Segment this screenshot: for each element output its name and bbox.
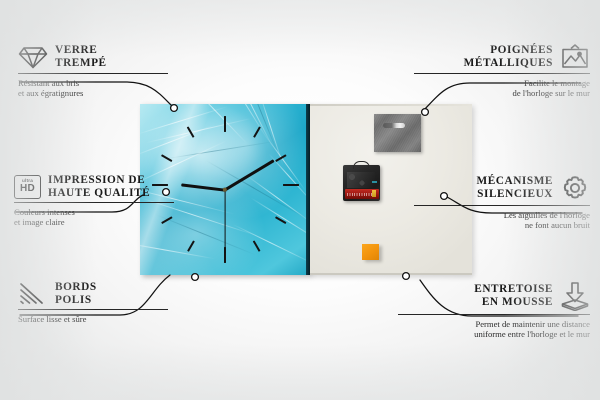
divider [18, 73, 168, 74]
connector-dot [192, 274, 199, 281]
feature-title: ENTRETOISE EN MOUSSE [474, 283, 553, 308]
divider [414, 73, 590, 74]
diamond-icon [18, 44, 48, 70]
feature-title: BORDS POLIS [55, 281, 97, 306]
polished-edge-icon [18, 282, 48, 306]
feature-bords-polis: BORDS POLIS Surface lisse et sûre [18, 281, 168, 324]
feature-impression-haute-qualite: ultra HD IMPRESSION DE HAUTE QUALITÉ Cou… [14, 174, 174, 228]
feature-mecanisme-silencieux: MÉCANISME SILENCIEUX Les aiguilles de l'… [414, 174, 590, 230]
divider [18, 309, 168, 310]
feature-poignees-metalliques: POIGNÉES MÉTALLIQUES Facilite le montage… [414, 44, 590, 98]
connector-dot [171, 105, 178, 112]
infographic-canvas: VERRE TREMPÉ Résistant aux bris et aux é… [0, 0, 600, 400]
foam-spacer-arrow-icon [560, 281, 590, 311]
divider [14, 202, 174, 203]
feature-subtitle: Facilite le montage de l'horloge sur le … [414, 78, 590, 99]
feature-subtitle: Surface lisse et sûre [18, 314, 168, 324]
picture-frame-hanger-icon [560, 44, 590, 70]
feature-verre-trempe: VERRE TREMPÉ Résistant aux bris et aux é… [18, 44, 168, 98]
feature-subtitle: Les aiguilles de l'horloge ne font aucun… [414, 210, 590, 231]
divider [414, 205, 590, 206]
connector-dot [422, 109, 429, 116]
gear-icon [560, 174, 590, 202]
divider [398, 314, 590, 315]
feature-entretoise-en-mousse: ENTRETOISE EN MOUSSE Permet de maintenir… [398, 281, 590, 339]
ultra-hd-large-label: HD [20, 184, 35, 194]
feature-title: MÉCANISME SILENCIEUX [477, 175, 554, 200]
connector-dot [403, 273, 410, 280]
feature-subtitle: Permet de maintenir une distance uniform… [398, 319, 590, 340]
feature-title: IMPRESSION DE HAUTE QUALITÉ [48, 174, 150, 199]
ultra-hd-icon: ultra HD [14, 175, 41, 199]
feature-subtitle: Résistant aux bris et aux égratignures [18, 78, 168, 99]
feature-title: POIGNÉES MÉTALLIQUES [464, 44, 553, 69]
feature-subtitle: Couleurs intenses et image claire [14, 207, 174, 228]
feature-title: VERRE TREMPÉ [55, 44, 107, 69]
